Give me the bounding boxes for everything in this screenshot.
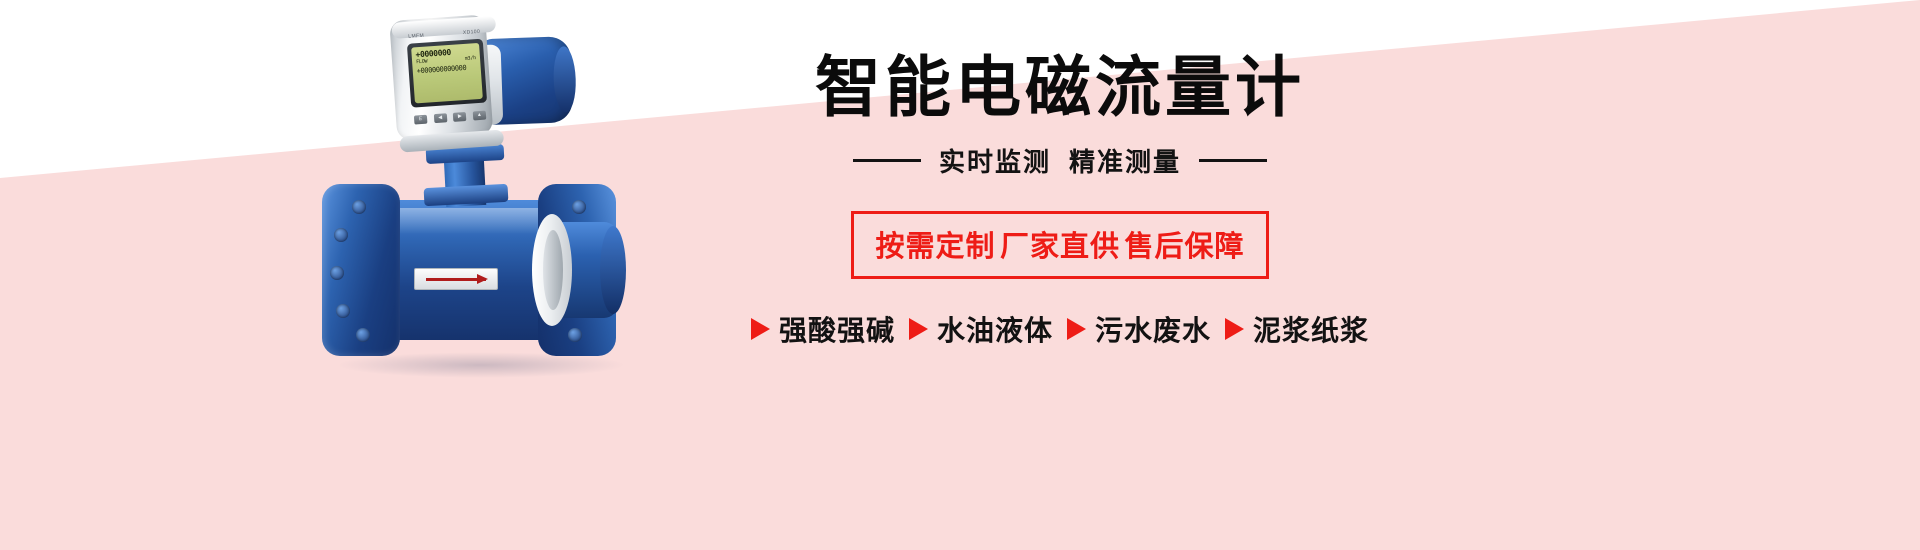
flange-bolt [334,228,348,242]
arrow-right-icon [751,318,770,340]
flange-bolt [572,200,586,214]
promise-item-custom: 按需定制 [876,231,996,263]
banner-content: 智能电磁流量计 实时监测 精准测量 按需定制 厂家直供 售后保障 强酸强碱 [700,0,1420,550]
promise-item-aftersales: 售后保障 [1124,231,1244,263]
device-model: XD100 [463,29,481,38]
right-pipe-cap [600,226,626,314]
promise-item-factory: 厂家直供 [1000,231,1120,263]
feature-label: 水油液体 [937,309,1053,349]
keypad-button-enter: E [414,114,428,124]
feature-item-sewage: 污水废水 [1067,309,1211,349]
device-brand: LMFM [408,33,424,42]
arrow-right-icon [909,318,928,340]
keypad-button-right: ▶ [453,111,467,121]
subtitle-row: 实时监测 精准测量 [700,142,1420,179]
arrow-right-icon [1067,318,1086,340]
lcd-unit-left: FLOW [416,59,428,67]
feature-label: 强酸强碱 [779,309,895,349]
flange-bolt [356,328,370,342]
flange-bolt [568,328,582,342]
subtitle-rule-right [1199,159,1267,162]
subtitle-right: 精准测量 [1069,142,1181,179]
keypad-button-up: ▲ [473,110,487,120]
feature-list: 强酸强碱 水油液体 污水废水 泥浆纸浆 [700,309,1420,349]
flange-bolt [330,266,344,280]
feature-item-acid-alkali: 强酸强碱 [751,309,895,349]
keypad: E ◀ ▶ ▲ [414,109,487,126]
feature-item-water-oil: 水油液体 [909,309,1053,349]
housing-bottom-ring [399,129,504,152]
product-image-electromagnetic-flowmeter: LMFM XD100 +0000000 FLOW m3/h +000000000… [300,0,720,470]
subtitle-left: 实时监测 [939,142,1051,179]
flange-bolt [336,304,350,318]
flange-bolt [352,200,366,214]
pipe-liner-inner [543,230,563,310]
lcd-screen: +0000000 FLOW m3/h +000000000000 [411,43,483,104]
subtitle-rule-left [853,159,921,162]
feature-label: 污水废水 [1095,309,1211,349]
promise-box: 按需定制 厂家直供 售后保障 [851,211,1270,279]
display-housing: LMFM XD100 +0000000 FLOW m3/h +000000000… [389,14,493,140]
flow-direction-plate [414,268,498,290]
arrow-right-icon [1225,318,1244,340]
feature-item-slurry-pulp: 泥浆纸浆 [1225,309,1369,349]
transmitter-head: LMFM XD100 +0000000 FLOW m3/h +000000000… [383,0,604,173]
keypad-button-left: ◀ [433,113,447,123]
feature-label: 泥浆纸浆 [1253,309,1369,349]
product-banner: LMFM XD100 +0000000 FLOW m3/h +000000000… [0,0,1920,550]
flow-arrow-icon [426,278,486,281]
lcd-unit-right: m3/h [465,55,477,63]
left-flange [322,184,400,356]
page-title: 智能电磁流量计 [700,48,1420,126]
lcd-bezel: +0000000 FLOW m3/h +000000000000 [407,39,487,108]
